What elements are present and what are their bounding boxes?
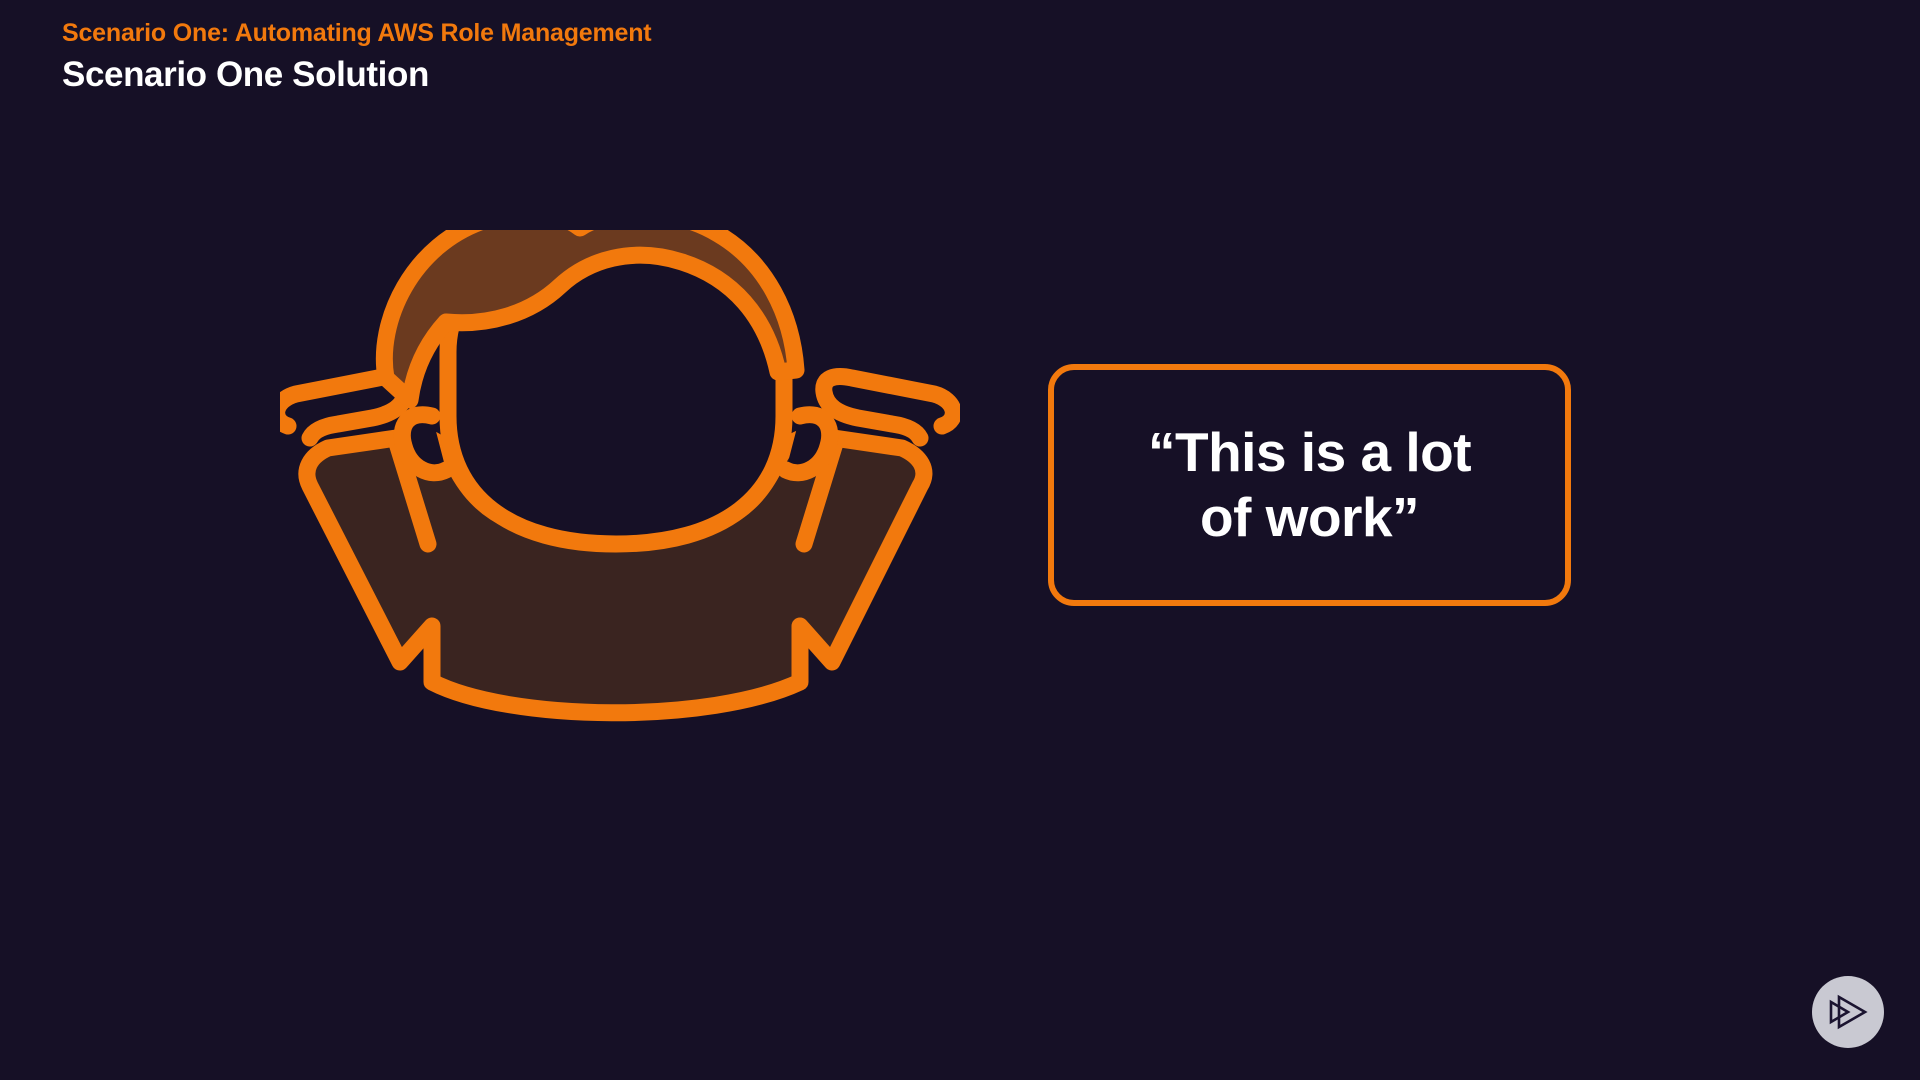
- speech-bubble-text: “This is a lot of work”: [1130, 420, 1489, 550]
- play-triangles-logo[interactable]: [1812, 976, 1884, 1048]
- play-triangles-icon: [1825, 989, 1871, 1035]
- slide-header: Scenario One: Automating AWS Role Manage…: [62, 18, 1562, 96]
- hand-right: [824, 377, 954, 438]
- shrugging-person-svg: [280, 230, 960, 830]
- slide-eyebrow: Scenario One: Automating AWS Role Manage…: [62, 18, 1562, 48]
- speech-bubble: “This is a lot of work”: [1048, 364, 1571, 606]
- slide-canvas: Scenario One: Automating AWS Role Manage…: [0, 0, 1920, 1080]
- logo-triangle-outer: [1839, 997, 1865, 1027]
- page-title: Scenario One Solution: [62, 54, 1562, 96]
- shrugging-person-illustration: [280, 230, 960, 830]
